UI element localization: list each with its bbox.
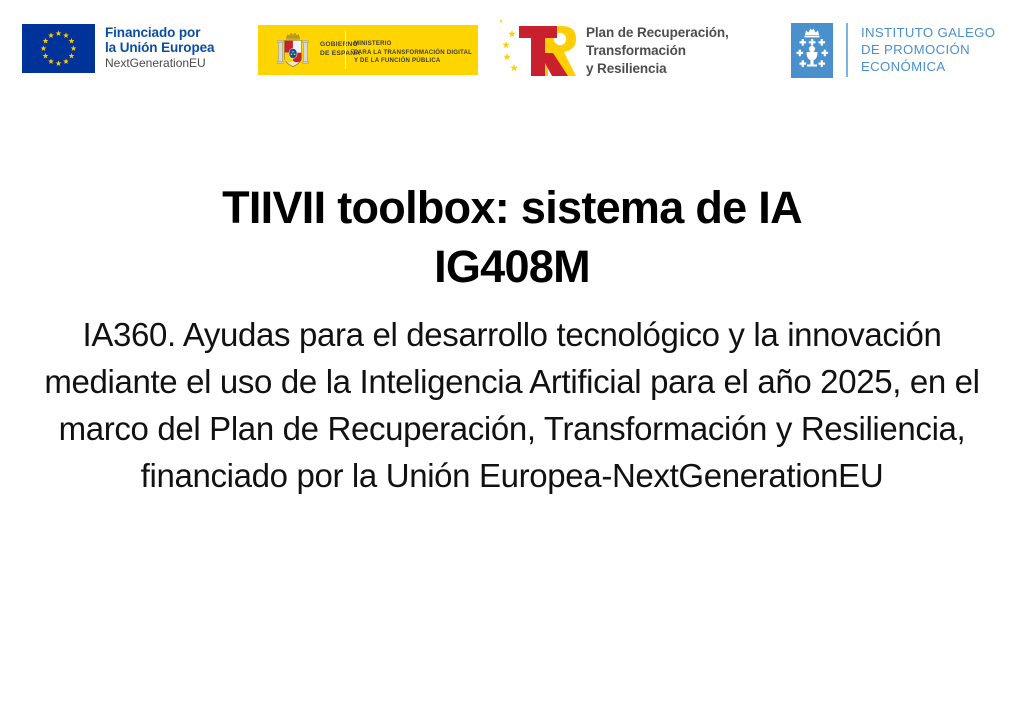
page-subtitle: IA360. Ayudas para el desarrollo tecnoló… xyxy=(0,297,1024,500)
prtr-line3: y Resiliencia xyxy=(586,60,729,78)
prtr-line1: Plan de Recuperación, xyxy=(586,24,729,42)
eu-funding-text: Financiado por la Unión Europea NextGene… xyxy=(105,24,214,71)
prtr-line2: Transformación xyxy=(586,42,729,60)
ministerio-line1: MINISTERIO xyxy=(354,40,472,49)
ministerio-line2: PARA LA TRANSFORMACIÓN DIGITAL xyxy=(354,49,472,58)
eu-funding-line2: la Unión Europea xyxy=(105,40,214,55)
tr-monogram-icon xyxy=(500,20,580,82)
igape-line1: INSTITUTO GALEGO xyxy=(861,24,995,41)
galicia-coat-of-arms-icon xyxy=(791,23,833,78)
eu-funding-line3: NextGenerationEU xyxy=(105,57,214,70)
igape-logo: INSTITUTO GALEGO DE PROMOCIÓN ECONÓMICA xyxy=(791,23,995,78)
page-title-line1: TIIVII toolbox: sistema de IA xyxy=(222,182,802,233)
page-title: TIIVII toolbox: sistema de IA IG408M xyxy=(0,100,1024,297)
igape-line2: DE PROMOCIÓN xyxy=(861,41,995,58)
spanish-coat-of-arms-icon xyxy=(276,30,310,70)
ministerio-name: MINISTERIO PARA LA TRANSFORMACIÓN DIGITA… xyxy=(354,40,472,66)
igape-divider xyxy=(846,23,848,77)
page-title-line2: IG408M xyxy=(434,241,590,292)
plan-recuperacion-text: Plan de Recuperación, Transformación y R… xyxy=(586,24,729,78)
eu-funding-logo: Financiado por la Unión Europea NextGene… xyxy=(22,24,214,73)
ministerio-line3: Y DE LA FUNCIÓN PÚBLICA xyxy=(354,57,472,66)
funding-logo-bar: Financiado por la Unión Europea NextGene… xyxy=(0,0,1024,100)
gobierno-divider xyxy=(345,31,346,69)
eu-funding-line1: Financiado por xyxy=(105,25,214,40)
eu-flag-icon xyxy=(22,24,95,73)
plan-recuperacion-logo: Plan de Recuperación, Transformación y R… xyxy=(500,20,729,82)
gobierno-espana-logo: GOBIERNO DE ESPAÑA MINISTERIO PARA LA TR… xyxy=(258,25,478,75)
main-content: TIIVII toolbox: sistema de IA IG408M IA3… xyxy=(0,100,1024,500)
eu-stars-icon xyxy=(22,24,95,73)
igape-text: INSTITUTO GALEGO DE PROMOCIÓN ECONÓMICA xyxy=(861,23,995,75)
igape-line3: ECONÓMICA xyxy=(861,58,995,75)
